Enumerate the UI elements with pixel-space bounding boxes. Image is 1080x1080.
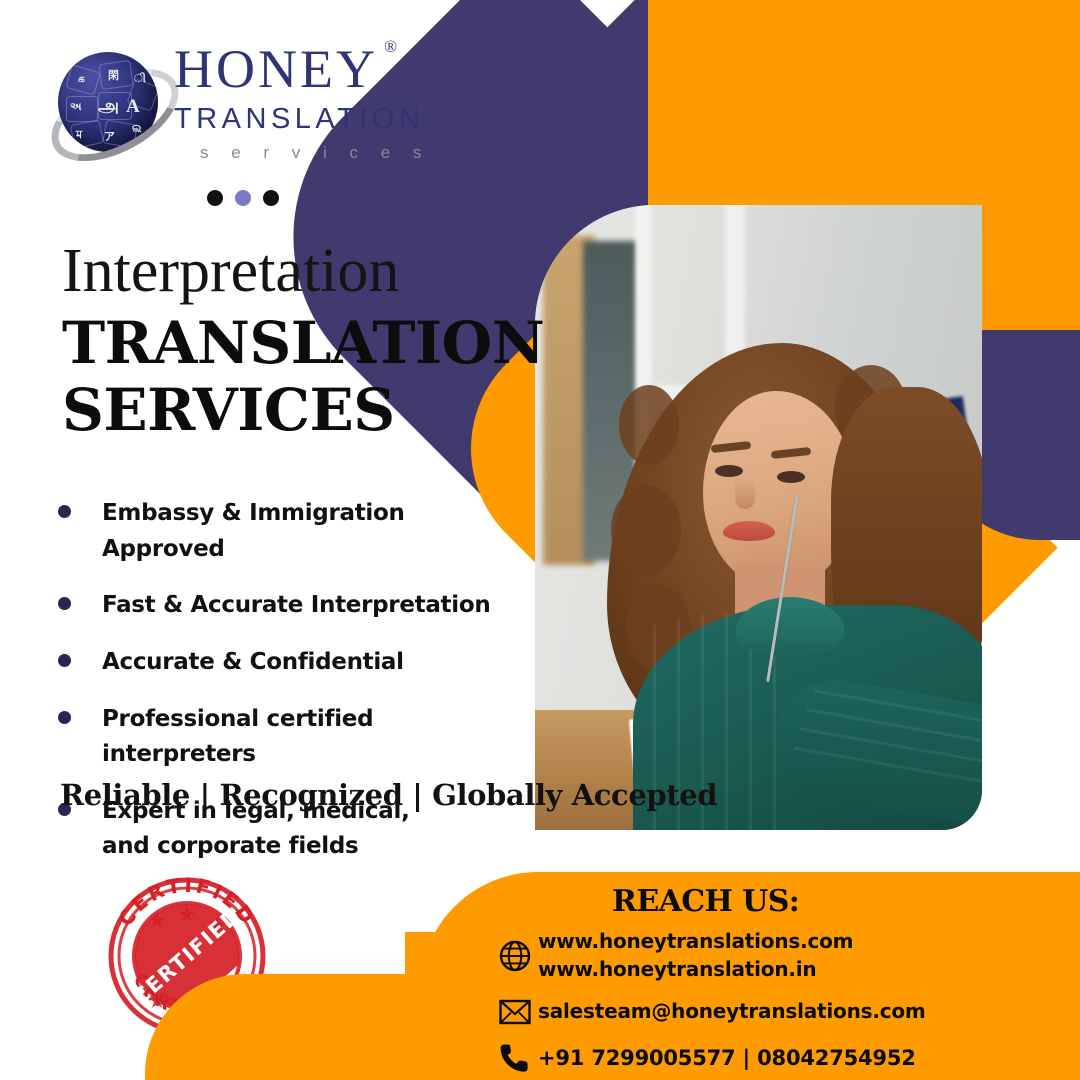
website-line-2[interactable]: www.honeytranslation.in	[538, 956, 853, 984]
list-item-label: Accurate & Confidential	[102, 645, 404, 681]
dot-2-accent	[235, 190, 251, 206]
lips	[723, 521, 775, 541]
list-item-label: Fast & Accurate Interpretation	[102, 588, 490, 624]
contact-row-email[interactable]: salesteam@honeytranslations.com	[492, 997, 1052, 1027]
poster-canvas: க 閑 ી અ அ A ম ア ଲ HONEY ® TRANSLATION s …	[0, 0, 1080, 1080]
headline-bold-line-2: SERVICES	[62, 377, 544, 444]
nose	[735, 479, 755, 509]
headline-bold: TRANSLATION SERVICES	[62, 310, 544, 445]
globe-languages-icon: க 閑 ી અ அ A ম ア ଲ	[52, 48, 164, 160]
feature-list: Embassy & Immigration Approved Fast & Ac…	[58, 496, 528, 886]
logo-name-third: s e r v i c e s	[200, 143, 474, 163]
contact-title: REACH US:	[612, 884, 799, 919]
bullet-dot-icon	[58, 711, 71, 724]
website-line-1[interactable]: www.honeytranslations.com	[538, 928, 853, 956]
logo-name-second: TRANSLATION	[174, 103, 474, 136]
logo-name-main: HONEY ®	[174, 42, 378, 96]
contact-row-phone[interactable]: +91 7299005577 | 08042754952	[492, 1041, 1052, 1075]
interpreter-person	[585, 325, 982, 830]
list-item: Professional certified interpreters	[58, 702, 528, 773]
headline-bold-line-1: TRANSLATION	[62, 310, 544, 377]
globe-glyph: க	[78, 72, 85, 87]
hero-photo	[535, 205, 982, 830]
headline-script: Interpretation	[62, 236, 399, 307]
logo-dots-decoration	[207, 190, 279, 206]
tagline: Reliable | Recognized | Globally Accepte…	[60, 778, 717, 812]
hero-photo-inner	[535, 205, 982, 830]
list-item: Fast & Accurate Interpretation	[58, 588, 528, 624]
list-item-label: Embassy & Immigration Approved	[102, 496, 528, 567]
bullet-dot-icon	[58, 505, 71, 518]
registered-mark-icon: ®	[384, 38, 400, 55]
dot-3	[263, 190, 279, 206]
brand-logo[interactable]: க 閑 ી અ அ A ম ア ଲ HONEY ® TRANSLATION s …	[52, 42, 472, 182]
phone-icon	[492, 1041, 538, 1075]
list-item: Accurate & Confidential	[58, 645, 528, 681]
dot-1	[207, 190, 223, 206]
envelope-icon	[492, 997, 538, 1027]
bullet-dot-icon	[58, 654, 71, 667]
contact-row-website[interactable]: www.honeytranslations.com www.honeytrans…	[492, 928, 1052, 983]
logo-wordmark: HONEY ® TRANSLATION s e r v i c e s	[174, 42, 474, 163]
contact-list: www.honeytranslations.com www.honeytrans…	[492, 928, 1052, 1080]
logo-name-main-text: HONEY	[174, 39, 378, 99]
list-item: Embassy & Immigration Approved	[58, 496, 528, 567]
contact-email-text[interactable]: salesteam@honeytranslations.com	[538, 998, 926, 1026]
bullet-dot-icon	[58, 597, 71, 610]
list-item-label: Professional certified interpreters	[102, 702, 528, 773]
contact-website-lines: www.honeytranslations.com www.honeytrans…	[538, 928, 853, 983]
contact-phone-text[interactable]: +91 7299005577 | 08042754952	[538, 1044, 916, 1073]
globe-icon	[492, 939, 538, 973]
